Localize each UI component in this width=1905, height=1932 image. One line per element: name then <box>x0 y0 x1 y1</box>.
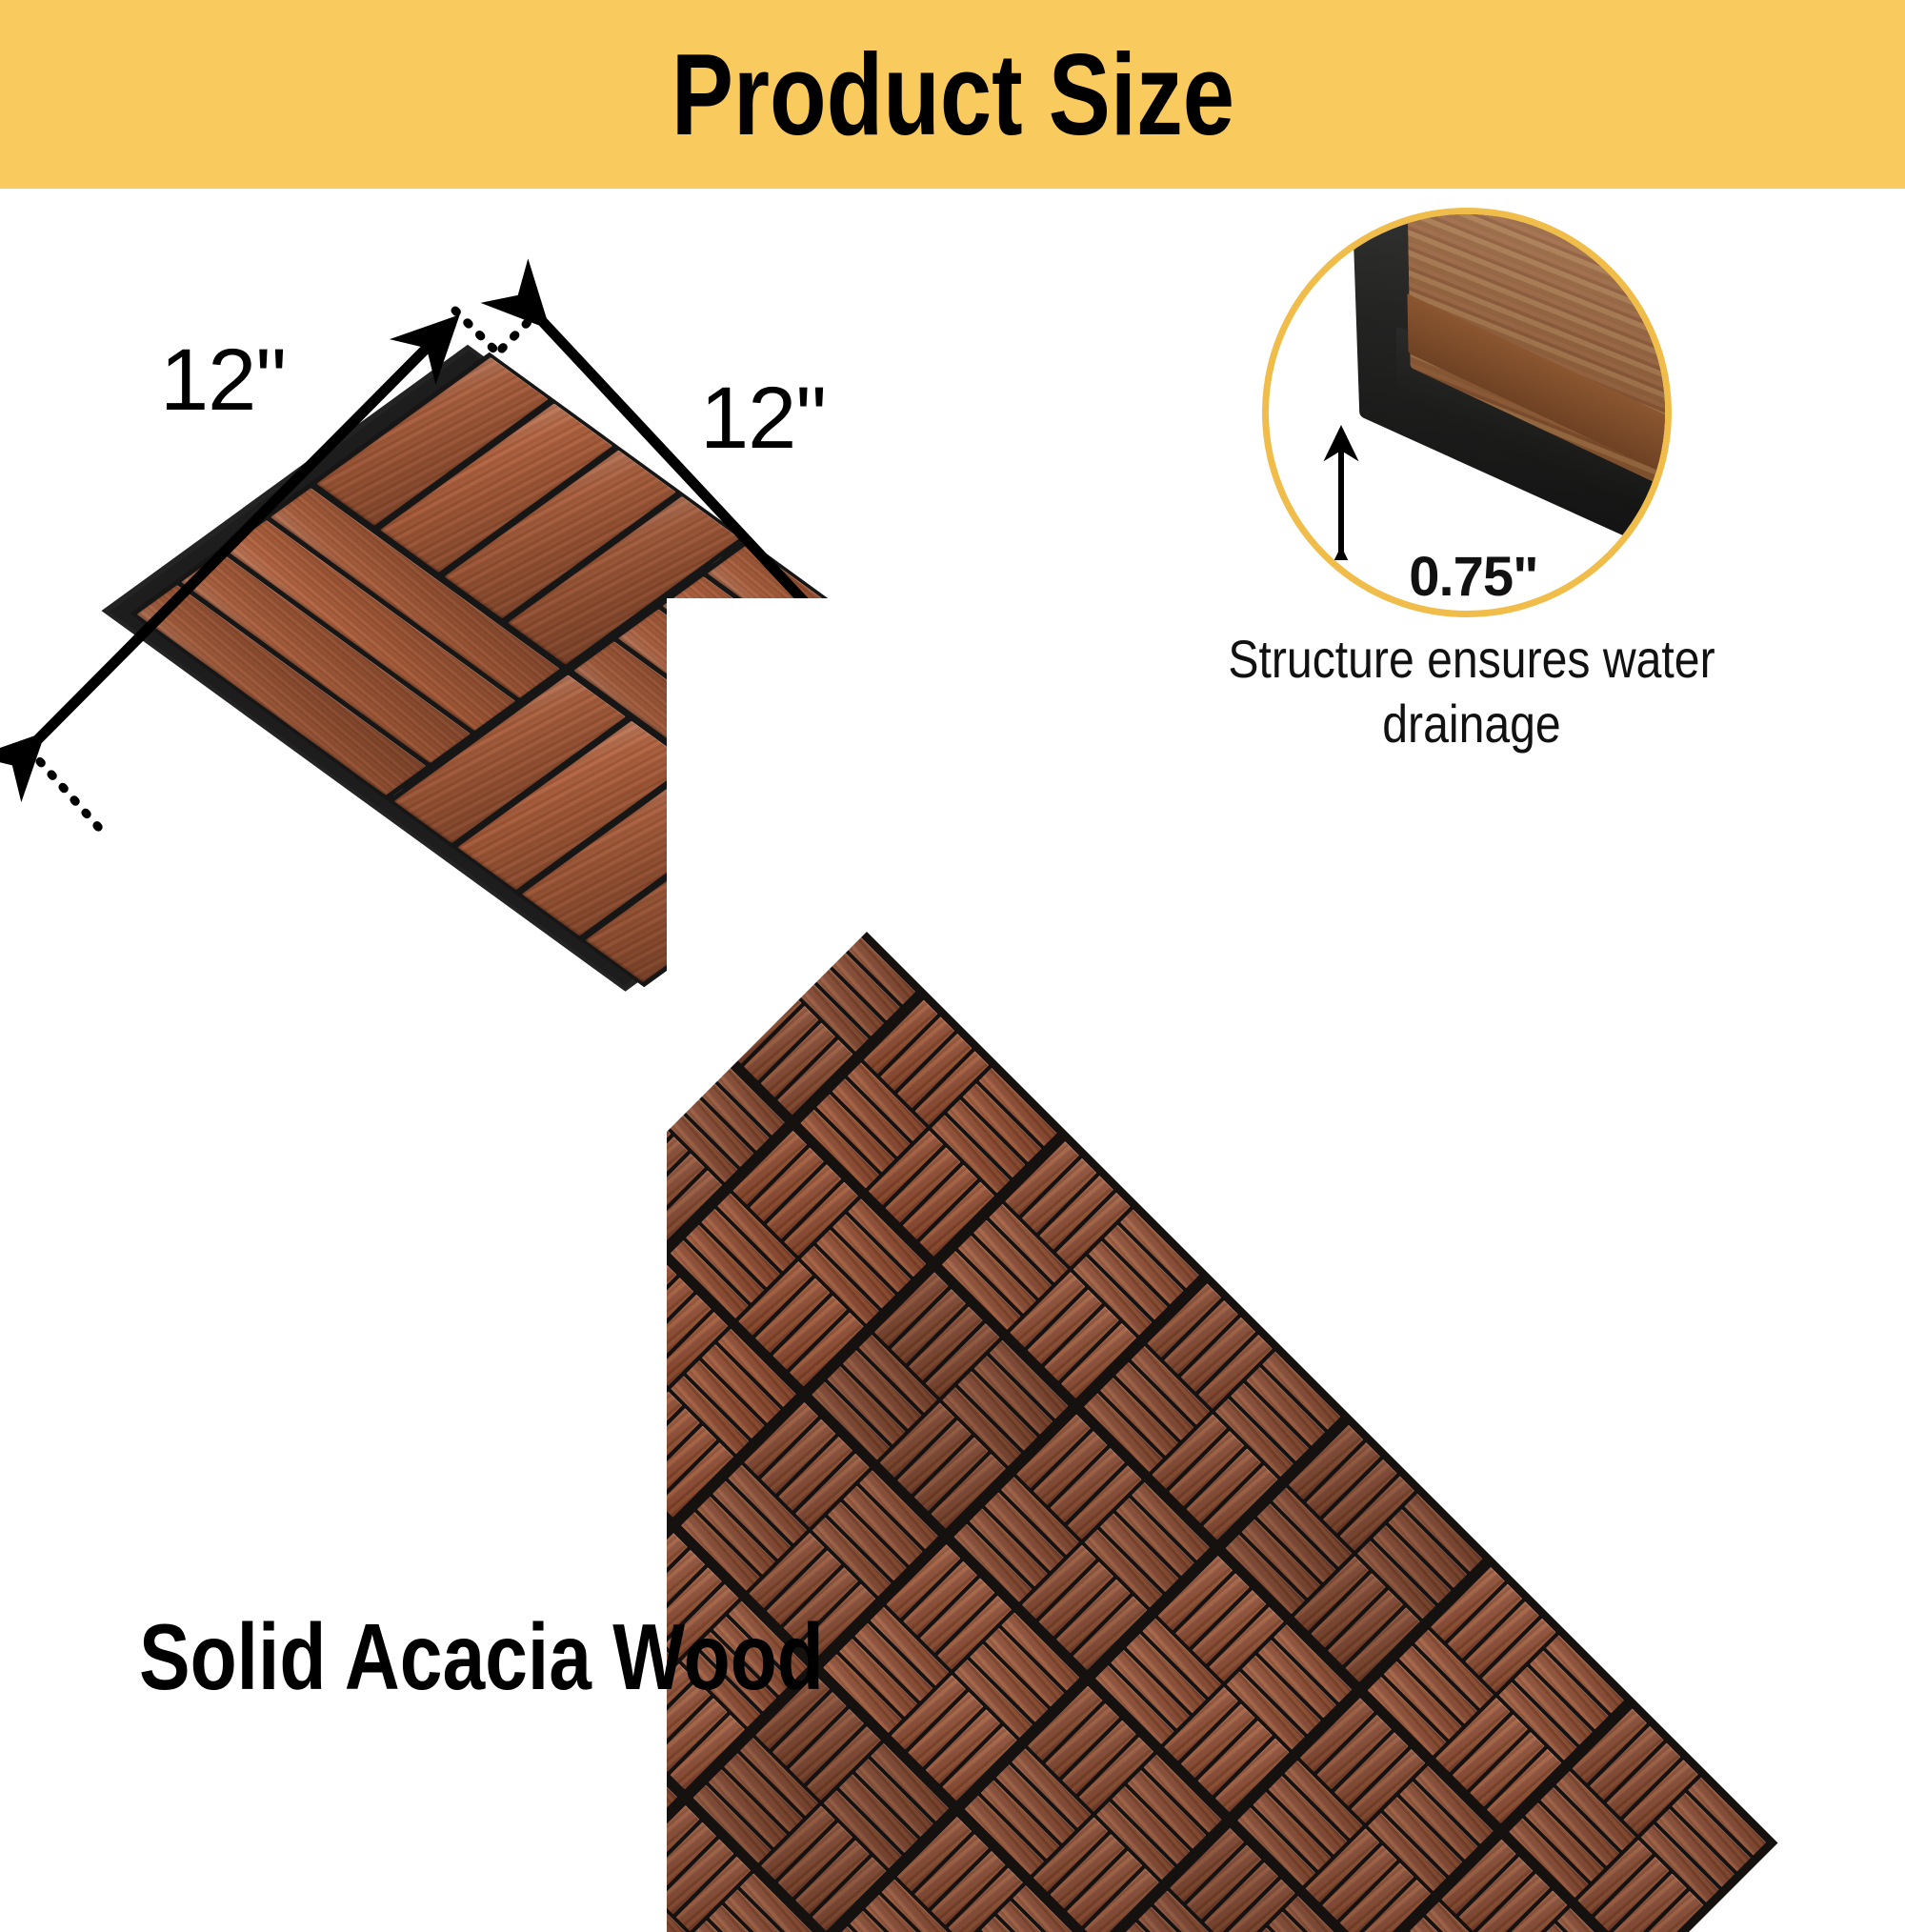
footer-headline: Solid Acacia Wood <box>139 1610 824 1703</box>
thickness-detail-inset: 0.75" <box>1262 208 1672 617</box>
thickness-label: 0.75" <box>1269 550 1672 605</box>
vertical-thickness-arrow-icon <box>1322 422 1360 560</box>
extension-line-apex-left <box>455 311 495 351</box>
page-title: Product Size <box>671 36 1233 152</box>
dimension-label-width: 12" <box>160 336 286 424</box>
header-banner: Product Size <box>0 0 1905 189</box>
detail-circle-frame: 0.75" <box>1262 208 1672 617</box>
content-stage: 12" 12" 0.75" Structure ensure <box>0 189 1905 1905</box>
extension-line-left-corner <box>29 749 107 836</box>
deck-tile-grid <box>667 846 1778 1932</box>
assembled-deck-photo <box>667 598 1905 1932</box>
dimension-label-depth: 12" <box>700 374 826 462</box>
tile-edge-photo <box>1354 208 1672 574</box>
extension-line-apex-right <box>498 311 539 352</box>
